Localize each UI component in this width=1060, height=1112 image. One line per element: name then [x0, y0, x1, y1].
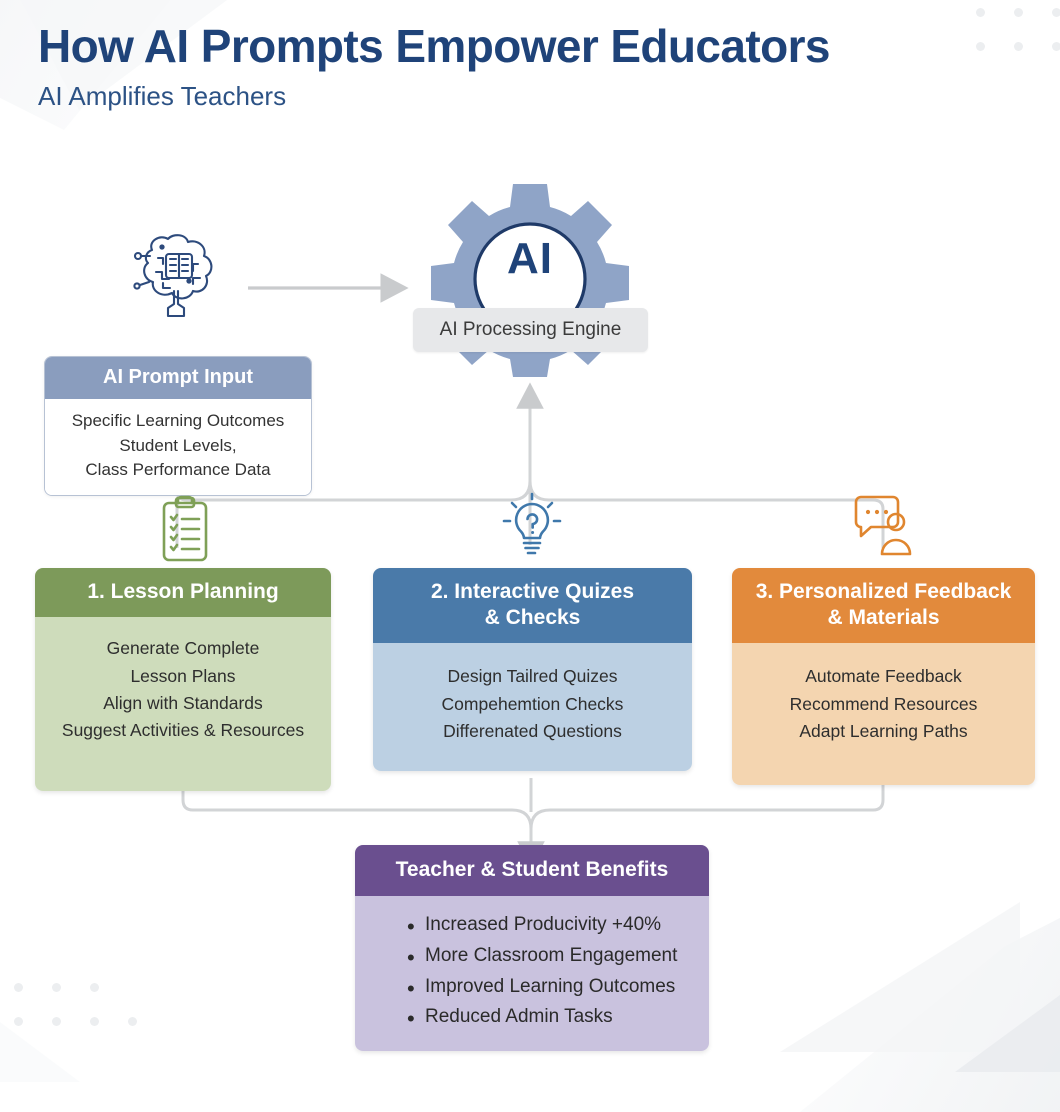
- engine-caption: AI Processing Engine: [413, 308, 648, 352]
- chat-person-icon: [848, 492, 918, 562]
- ai-prompt-input-body: Specific Learning Outcomes Student Level…: [45, 399, 311, 495]
- brain-circuit-icon: [118, 228, 238, 320]
- pillar-line: Recommend Resources: [738, 691, 1029, 718]
- benefit-item: Reduced Admin Tasks: [407, 1002, 709, 1033]
- benefits-body: Increased Producivity +40% More Classroo…: [355, 896, 709, 1051]
- benefit-item: Improved Learning Outcomes: [407, 972, 709, 1003]
- pillar-heading: 3. Personalized Feedback & Materials: [732, 568, 1035, 643]
- benefits-card: Teacher & Student Benefits Increased Pro…: [355, 845, 709, 1051]
- infographic-canvas: How AI Prompts Empower Educators AI Ampl…: [0, 0, 1060, 1042]
- pillar-body: Generate Complete Lesson Plans Align wit…: [35, 617, 331, 791]
- pillar-card-lesson-planning: 1. Lesson Planning Generate Complete Les…: [35, 568, 331, 791]
- pillar-line: Lesson Plans: [41, 663, 325, 690]
- benefit-item: Increased Producivity +40%: [407, 910, 709, 941]
- benefits-heading: Teacher & Student Benefits: [355, 845, 709, 896]
- pillar-line: Compehemtion Checks: [379, 691, 686, 718]
- pillar-heading-line1: 3. Personalized Feedback: [756, 580, 1012, 603]
- clipboard-checklist-icon: [150, 495, 220, 565]
- pillar-line: Align with Standards: [41, 690, 325, 717]
- gear-ai-label: AI: [430, 234, 630, 284]
- pillar-heading-line1: 2. Interactive Quizes: [431, 580, 634, 603]
- pillar-line: Differenated Questions: [379, 718, 686, 745]
- pillar-body: Design Tailred Quizes Compehemtion Check…: [373, 643, 692, 771]
- ai-prompt-input-heading: AI Prompt Input: [45, 357, 311, 399]
- prompt-line: Student Levels,: [53, 434, 303, 459]
- prompt-line: Class Performance Data: [53, 458, 303, 483]
- pillar-line: Automate Feedback: [738, 663, 1029, 690]
- pillar-heading: 1. Lesson Planning: [35, 568, 331, 617]
- pillar-card-interactive-quizzes: 2. Interactive Quizes & Checks Design Ta…: [373, 568, 692, 771]
- pillar-card-personalized-feedback: 3. Personalized Feedback & Materials Aut…: [732, 568, 1035, 785]
- pillar-heading-line2: & Checks: [485, 606, 581, 629]
- pillar-line: Adapt Learning Paths: [738, 718, 1029, 745]
- benefit-item: More Classroom Engagement: [407, 941, 709, 972]
- pillar-line: Suggest Activities & Resources: [41, 717, 325, 744]
- pillar-heading: 2. Interactive Quizes & Checks: [373, 568, 692, 643]
- lightbulb-question-icon: [497, 492, 567, 562]
- prompt-line: Specific Learning Outcomes: [53, 409, 303, 434]
- pillar-line: Generate Complete: [41, 635, 325, 662]
- benefits-list: Increased Producivity +40% More Classroo…: [355, 910, 709, 1033]
- pillar-body: Automate Feedback Recommend Resources Ad…: [732, 643, 1035, 785]
- pillar-line: Design Tailred Quizes: [379, 663, 686, 690]
- pillar-heading-line2: & Materials: [827, 606, 939, 629]
- ai-prompt-input-card: AI Prompt Input Specific Learning Outcom…: [44, 356, 312, 496]
